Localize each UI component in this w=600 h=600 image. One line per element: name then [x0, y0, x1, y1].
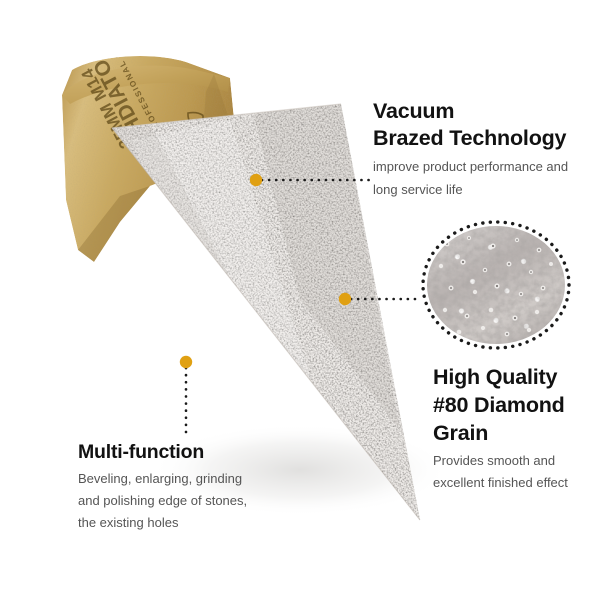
multi-body-line1: Beveling, enlarging, grinding — [78, 470, 247, 487]
callout-dot-grain[interactable] — [339, 293, 351, 305]
callout-dot-multi[interactable] — [180, 356, 192, 368]
infographic-canvas: SHDIATOOL PROFESSIONAL SUPPLIER 35MM M14 — [0, 0, 600, 600]
grain-heading-line1: High Quality — [433, 363, 568, 391]
callout-dot-vacuum[interactable] — [250, 174, 262, 186]
grain-heading-line3: Grain — [433, 419, 568, 447]
multi-body-line3: the existing holes — [78, 514, 247, 531]
callout-text-multi: Multi-function Beveling, enlarging, grin… — [78, 440, 247, 531]
vacuum-heading-line2: Brazed Technology — [373, 125, 568, 152]
callout-text-grain: High Quality #80 Diamond Grain Provides … — [433, 363, 568, 491]
multi-body-line2: and polishing edge of stones, — [78, 492, 247, 509]
multi-heading-line1: Multi-function — [78, 440, 247, 465]
grain-body-line1: Provides smooth and — [433, 452, 568, 469]
vacuum-body-line2: long service life — [373, 181, 568, 198]
grain-heading-line2: #80 Diamond — [433, 391, 568, 419]
grain-body-line2: excellent finished effect — [433, 474, 568, 491]
callout-text-vacuum: Vacuum Brazed Technology improve product… — [373, 98, 568, 198]
vacuum-heading-line1: Vacuum — [373, 98, 568, 125]
vacuum-body-line1: improve product performance and — [373, 158, 568, 175]
